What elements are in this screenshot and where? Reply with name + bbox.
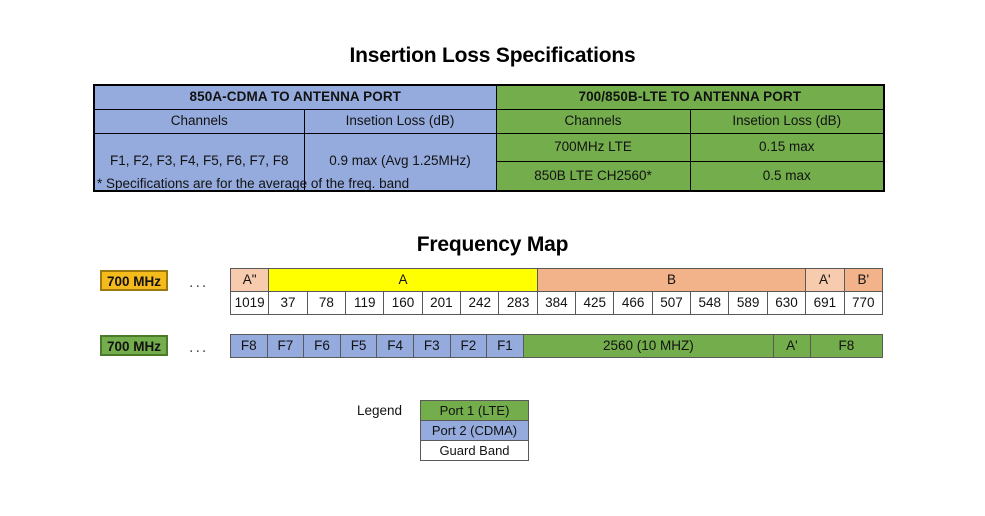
ellipsis-row1: ... bbox=[189, 274, 208, 292]
channel-cell-507: 507 bbox=[652, 292, 690, 315]
page-title-insertion-loss: Insertion Loss Specifications bbox=[0, 44, 985, 68]
channel-cell-589: 589 bbox=[729, 292, 767, 315]
channel-cell-770: 770 bbox=[844, 292, 883, 315]
legend-item-3: Guard Band bbox=[421, 441, 529, 461]
channel-cell-548: 548 bbox=[691, 292, 729, 315]
cell-lte-loss-700: 0.15 max bbox=[690, 133, 884, 161]
freq-cell-f3: F3 bbox=[413, 335, 450, 358]
channel-cell-1019: 1019 bbox=[231, 292, 269, 315]
channel-cell-425: 425 bbox=[576, 292, 614, 315]
frequency-band-4: A' bbox=[806, 269, 844, 292]
frequency-map-channel-row-1: 1019377811916020124228338442546650754858… bbox=[231, 292, 883, 315]
frequency-band-5: B' bbox=[844, 269, 883, 292]
channel-cell-78: 78 bbox=[307, 292, 345, 315]
frequency-map-row-1: A"ABA'B' 1019377811916020124228338442546… bbox=[230, 268, 883, 315]
badge-700mhz-row1: 700 MHz bbox=[100, 270, 168, 291]
legend-item-1: Port 1 (LTE) bbox=[421, 401, 529, 421]
table-footnote: * Specifications are for the average of … bbox=[97, 176, 409, 191]
legend-label: Legend bbox=[357, 403, 402, 418]
channel-cell-242: 242 bbox=[461, 292, 499, 315]
freq-cell-f6: F6 bbox=[304, 335, 341, 358]
cell-lte-loss-850b: 0.5 max bbox=[690, 162, 884, 191]
table-row-group-headers: 850A-CDMA TO ANTENNA PORT 700/850B-LTE T… bbox=[94, 85, 884, 109]
freq-cell-f8: F8 bbox=[231, 335, 268, 358]
channel-cell-691: 691 bbox=[806, 292, 844, 315]
frequency-band-1: A" bbox=[231, 269, 269, 292]
channel-cell-119: 119 bbox=[346, 292, 384, 315]
legend-item-2: Port 2 (CDMA) bbox=[421, 421, 529, 441]
table-row-column-headers: Channels Insetion Loss (dB) Channels Ins… bbox=[94, 109, 884, 133]
badge-700mhz-row2: 700 MHz bbox=[100, 335, 168, 356]
frequency-map-band-row-1: A"ABA'B' bbox=[231, 269, 883, 292]
freq-cell-2560-10-mhz-: 2560 (10 MHZ) bbox=[523, 335, 773, 358]
legend-row: Port 1 (LTE) bbox=[421, 401, 529, 421]
freq-cell-f7: F7 bbox=[267, 335, 304, 358]
channel-cell-160: 160 bbox=[384, 292, 422, 315]
group-header-cdma: 850A-CDMA TO ANTENNA PORT bbox=[94, 85, 496, 109]
legend-row: Port 2 (CDMA) bbox=[421, 421, 529, 441]
channel-cell-283: 283 bbox=[499, 292, 537, 315]
channel-cell-37: 37 bbox=[269, 292, 307, 315]
table-row: F1, F2, F3, F4, F5, F6, F7, F8 0.9 max (… bbox=[94, 133, 884, 161]
frequency-band-3: B bbox=[537, 269, 805, 292]
legend-box: Port 1 (LTE)Port 2 (CDMA)Guard Band bbox=[420, 400, 529, 461]
column-header-cdma-channels: Channels bbox=[94, 109, 304, 133]
freq-cell-f4: F4 bbox=[377, 335, 414, 358]
freq-cell-f1: F1 bbox=[487, 335, 524, 358]
cell-lte-channels-850b: 850B LTE CH2560* bbox=[496, 162, 690, 191]
frequency-band-2: A bbox=[269, 269, 537, 292]
ellipsis-row2: ... bbox=[189, 339, 208, 357]
cell-lte-channels-700: 700MHz LTE bbox=[496, 133, 690, 161]
frequency-map-document: Insertion Loss Specifications 850A-CDMA … bbox=[0, 0, 985, 516]
channel-cell-384: 384 bbox=[537, 292, 575, 315]
column-header-lte-loss: Insetion Loss (dB) bbox=[690, 109, 884, 133]
column-header-lte-channels: Channels bbox=[496, 109, 690, 133]
group-header-lte: 700/850B-LTE TO ANTENNA PORT bbox=[496, 85, 884, 109]
channel-cell-630: 630 bbox=[767, 292, 805, 315]
frequency-map-cell-row-2: F8F7F6F5F4F3F2F12560 (10 MHZ)A'F8 bbox=[231, 335, 883, 358]
channel-cell-201: 201 bbox=[422, 292, 460, 315]
freq-cell-f2: F2 bbox=[450, 335, 487, 358]
channel-cell-466: 466 bbox=[614, 292, 652, 315]
page-title-frequency-map: Frequency Map bbox=[0, 233, 985, 257]
legend-row: Guard Band bbox=[421, 441, 529, 461]
frequency-map-row-2: F8F7F6F5F4F3F2F12560 (10 MHZ)A'F8 bbox=[230, 334, 883, 358]
column-header-cdma-loss: Insetion Loss (dB) bbox=[304, 109, 496, 133]
freq-cell-f8: F8 bbox=[810, 335, 882, 358]
freq-cell-a-: A' bbox=[774, 335, 811, 358]
freq-cell-f5: F5 bbox=[340, 335, 377, 358]
